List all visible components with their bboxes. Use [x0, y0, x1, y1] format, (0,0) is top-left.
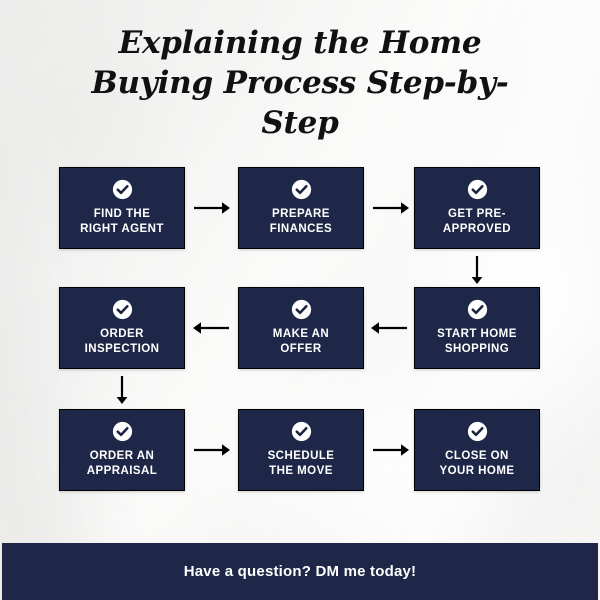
arrow-right-icon	[193, 200, 231, 216]
step-box-make-an-offer[interactable]: MAKE AN OFFER	[238, 287, 364, 369]
step-box-schedule-the-move[interactable]: SCHEDULE THE MOVE	[238, 409, 364, 491]
arrow-right-icon	[372, 442, 410, 458]
check-circle-icon	[291, 179, 312, 200]
footer-cta-text: Have a question? DM me today!	[184, 563, 417, 580]
check-circle-icon	[112, 421, 133, 442]
step-box-order-an-appraisal[interactable]: ORDER AN APPRAISAL	[59, 409, 185, 491]
infographic-canvas: Explaining the Home Buying Process Step-…	[0, 0, 600, 600]
arrow-down-icon	[114, 375, 130, 405]
step-label: ORDER AN APPRAISAL	[87, 449, 158, 478]
arrow-down-icon	[469, 255, 485, 285]
step-label: MAKE AN OFFER	[273, 327, 329, 356]
footer-cta-banner[interactable]: Have a question? DM me today!	[2, 543, 598, 600]
check-circle-icon	[291, 421, 312, 442]
check-circle-icon	[112, 179, 133, 200]
page-title: Explaining the Home Buying Process Step-…	[90, 24, 510, 144]
step-label: FIND THE RIGHT AGENT	[80, 207, 164, 236]
step-box-close-on-your-home[interactable]: CLOSE ON YOUR HOME	[414, 409, 540, 491]
check-circle-icon	[291, 299, 312, 320]
step-label: ORDER INSPECTION	[85, 327, 160, 356]
step-box-start-home-shopping[interactable]: START HOME SHOPPING	[414, 287, 540, 369]
step-box-find-the-right-agent[interactable]: FIND THE RIGHT AGENT	[59, 167, 185, 249]
arrow-left-icon	[370, 320, 408, 336]
step-box-get-pre-approved[interactable]: GET PRE- APPROVED	[414, 167, 540, 249]
check-circle-icon	[467, 179, 488, 200]
arrow-right-icon	[193, 442, 231, 458]
arrow-right-icon	[372, 200, 410, 216]
step-box-prepare-finances[interactable]: PREPARE FINANCES	[238, 167, 364, 249]
arrow-left-icon	[192, 320, 230, 336]
step-box-order-inspection[interactable]: ORDER INSPECTION	[59, 287, 185, 369]
step-label: SCHEDULE THE MOVE	[268, 449, 335, 478]
step-label: START HOME SHOPPING	[437, 327, 517, 356]
step-label: PREPARE FINANCES	[270, 207, 332, 236]
check-circle-icon	[112, 299, 133, 320]
step-label: CLOSE ON YOUR HOME	[440, 449, 515, 478]
step-label: GET PRE- APPROVED	[443, 207, 511, 236]
check-circle-icon	[467, 421, 488, 442]
check-circle-icon	[467, 299, 488, 320]
